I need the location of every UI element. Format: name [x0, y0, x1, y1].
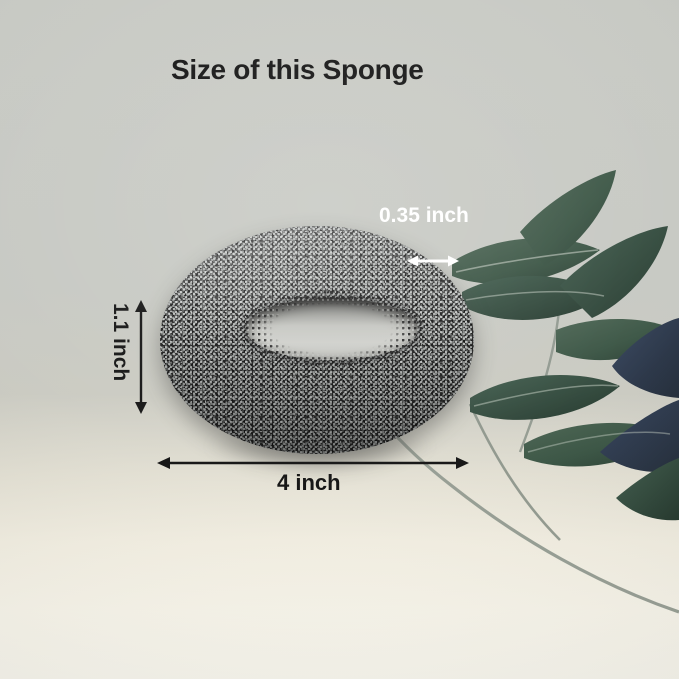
plant-stem-branch: [470, 404, 560, 540]
leaf-vein-3: [474, 385, 618, 406]
leaf-4: [560, 226, 668, 318]
dimension-arrow-thickness: [405, 248, 461, 274]
leaf-2: [462, 276, 606, 320]
page-title: Size of this Sponge: [171, 54, 424, 86]
leaf-5: [556, 319, 679, 360]
dimension-arrow-diameter: [155, 452, 471, 476]
leaf-10: [616, 458, 679, 520]
leaf-6: [470, 375, 620, 420]
product-size-infographic: 0.35 inch 1.1 inch 4 inch Size of this S…: [0, 0, 679, 679]
leaf-vein-4: [528, 432, 670, 452]
leaf-9-dark: [612, 318, 679, 398]
plant-stem-upper: [520, 300, 560, 452]
leaf-7: [524, 423, 672, 467]
dimension-arrow-height: [130, 298, 154, 416]
leaf-vein-2: [466, 292, 604, 300]
leaf-3: [520, 170, 616, 266]
leaf-vein-1: [456, 250, 598, 272]
dimension-label-thickness: 0.35 inch: [379, 204, 469, 228]
leaf-8: [600, 400, 679, 472]
dimension-label-height: 1.1 inch: [108, 303, 132, 381]
sponge-center-hole: [246, 298, 418, 360]
